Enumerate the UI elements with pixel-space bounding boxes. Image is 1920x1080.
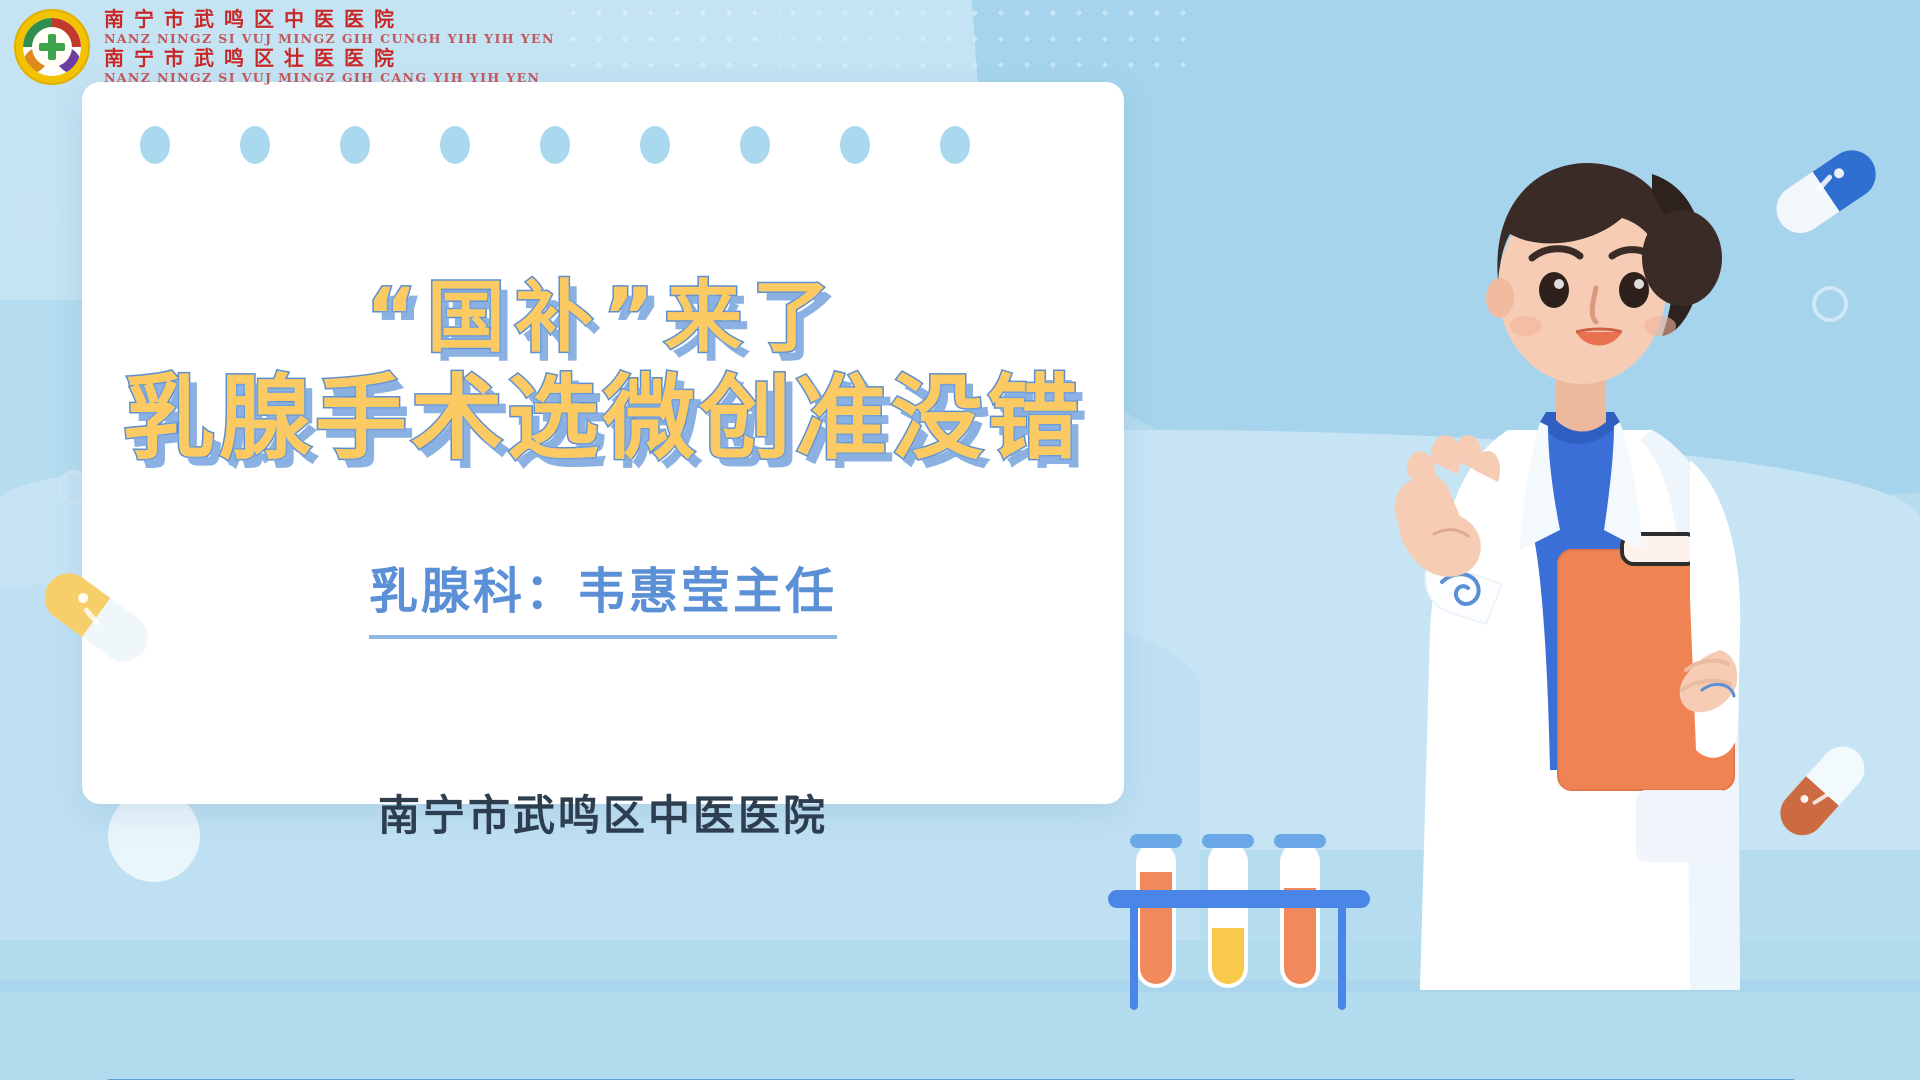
doctor-illustration [1390,130,1770,990]
hospital-logo-icon [14,9,90,85]
test-tube-rack [1108,820,1378,1020]
subtitle-block: 乳腺科：韦惠莹主任 [82,552,1124,639]
title-block: “国补”来了 乳腺手术选微创准没错 [82,278,1124,467]
notepad-card: “国补”来了 乳腺手术选微创准没错 乳腺科：韦惠莹主任 南宁市武鸣区中医医院 [82,82,1124,804]
decor-circle-right-icon [1812,286,1848,322]
capsule-orange-white-icon [1756,736,1886,851]
hospital-header: 南宁市武鸣区中医医院 NANZ NINGZ SI VUJ MINGZ GIH C… [14,8,555,86]
notepad-holes [82,126,1124,170]
presenter-subtitle: 乳腺科：韦惠莹主任 [369,552,837,639]
dot-pattern-texture-secondary [780,0,1200,70]
hospital-pinyin-secondary: NANZ NINGZ SI VUJ MINGZ GIH CANG YIH YIH… [104,71,555,85]
organization-footer: 南宁市武鸣区中医医院 [82,782,1124,843]
capsule-yellow-white-icon [28,560,168,675]
slide-canvas: 南宁市武鸣区中医医院 NANZ NINGZ SI VUJ MINGZ GIH C… [0,0,1920,1080]
hospital-pinyin-primary: NANZ NINGZ SI VUJ MINGZ GIH CUNGH YIH YI… [104,32,555,46]
title-line-2: 乳腺手术选微创准没错 [82,371,1124,467]
capsule-blue-white-icon [1760,140,1890,245]
title-line-1: “国补”来了 [82,278,1124,359]
hospital-name-cn-primary: 南宁市武鸣区中医医院 [104,8,555,31]
hospital-name-block: 南宁市武鸣区中医医院 NANZ NINGZ SI VUJ MINGZ GIH C… [104,8,555,86]
hospital-name-cn-secondary: 南宁市武鸣区壮医医院 [104,47,555,70]
decor-dot-top-left [6,188,60,242]
